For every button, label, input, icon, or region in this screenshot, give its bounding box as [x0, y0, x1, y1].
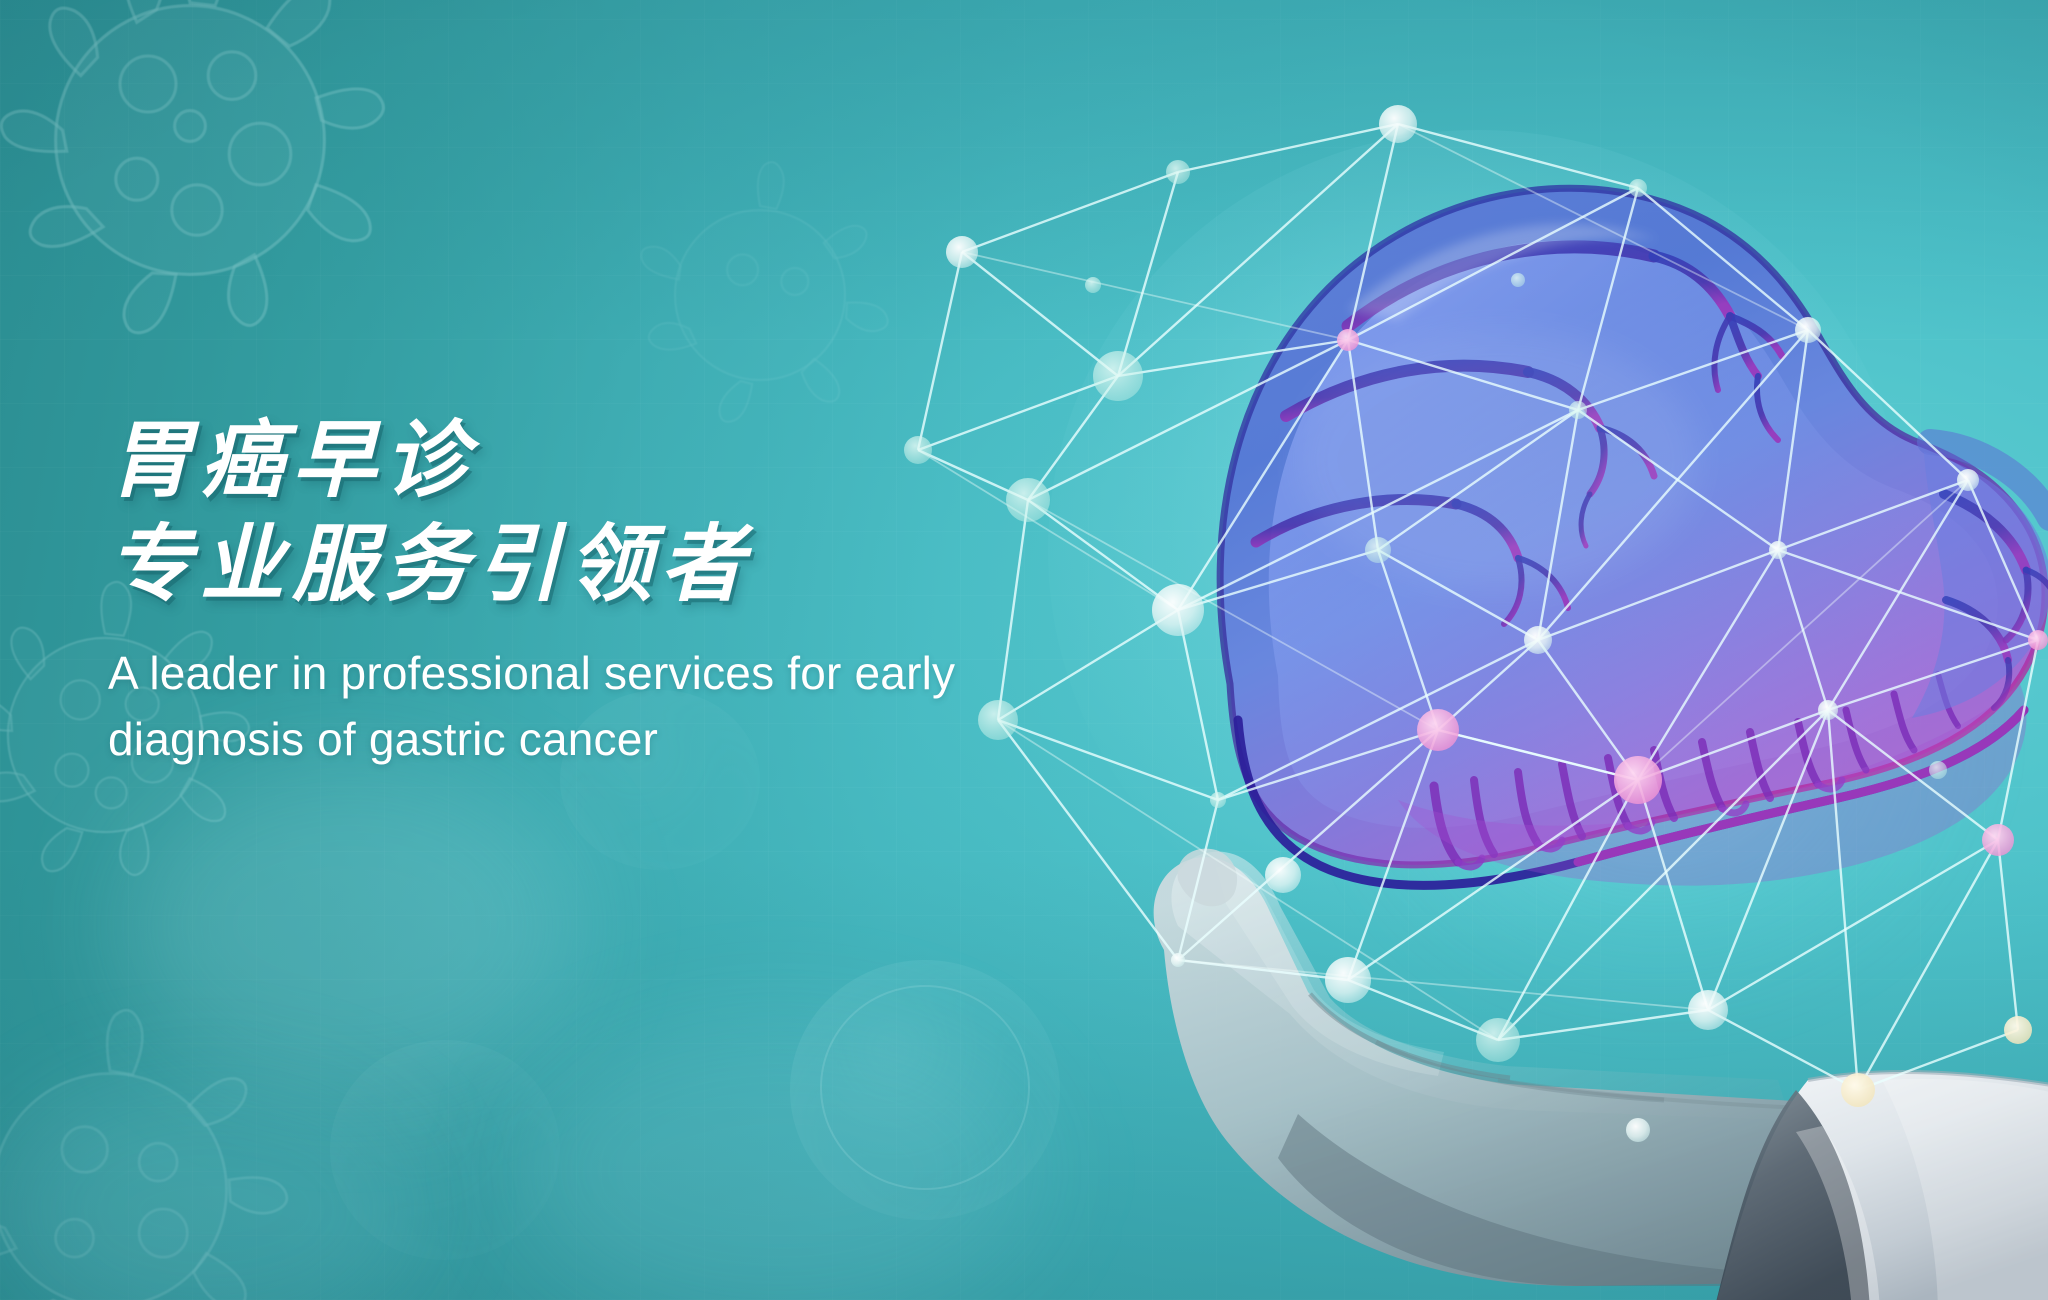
headline-line-1: 胃癌早诊 — [108, 418, 1208, 504]
headline-block: 胃癌早诊 专业服务引领者 A leader in professional se… — [108, 418, 1208, 772]
headline-line-2: 专业服务引领者 — [108, 522, 1208, 608]
subtitle-block: A leader in professional services for ea… — [108, 641, 1128, 772]
subtitle-line-1: A leader in professional services for ea… — [108, 641, 1128, 706]
subtitle-line-2: diagnosis of gastric cancer — [108, 707, 1128, 772]
stomach-illustration — [1220, 188, 2048, 885]
banner-root: 胃癌早诊 专业服务引领者 A leader in professional se… — [0, 0, 2048, 1300]
